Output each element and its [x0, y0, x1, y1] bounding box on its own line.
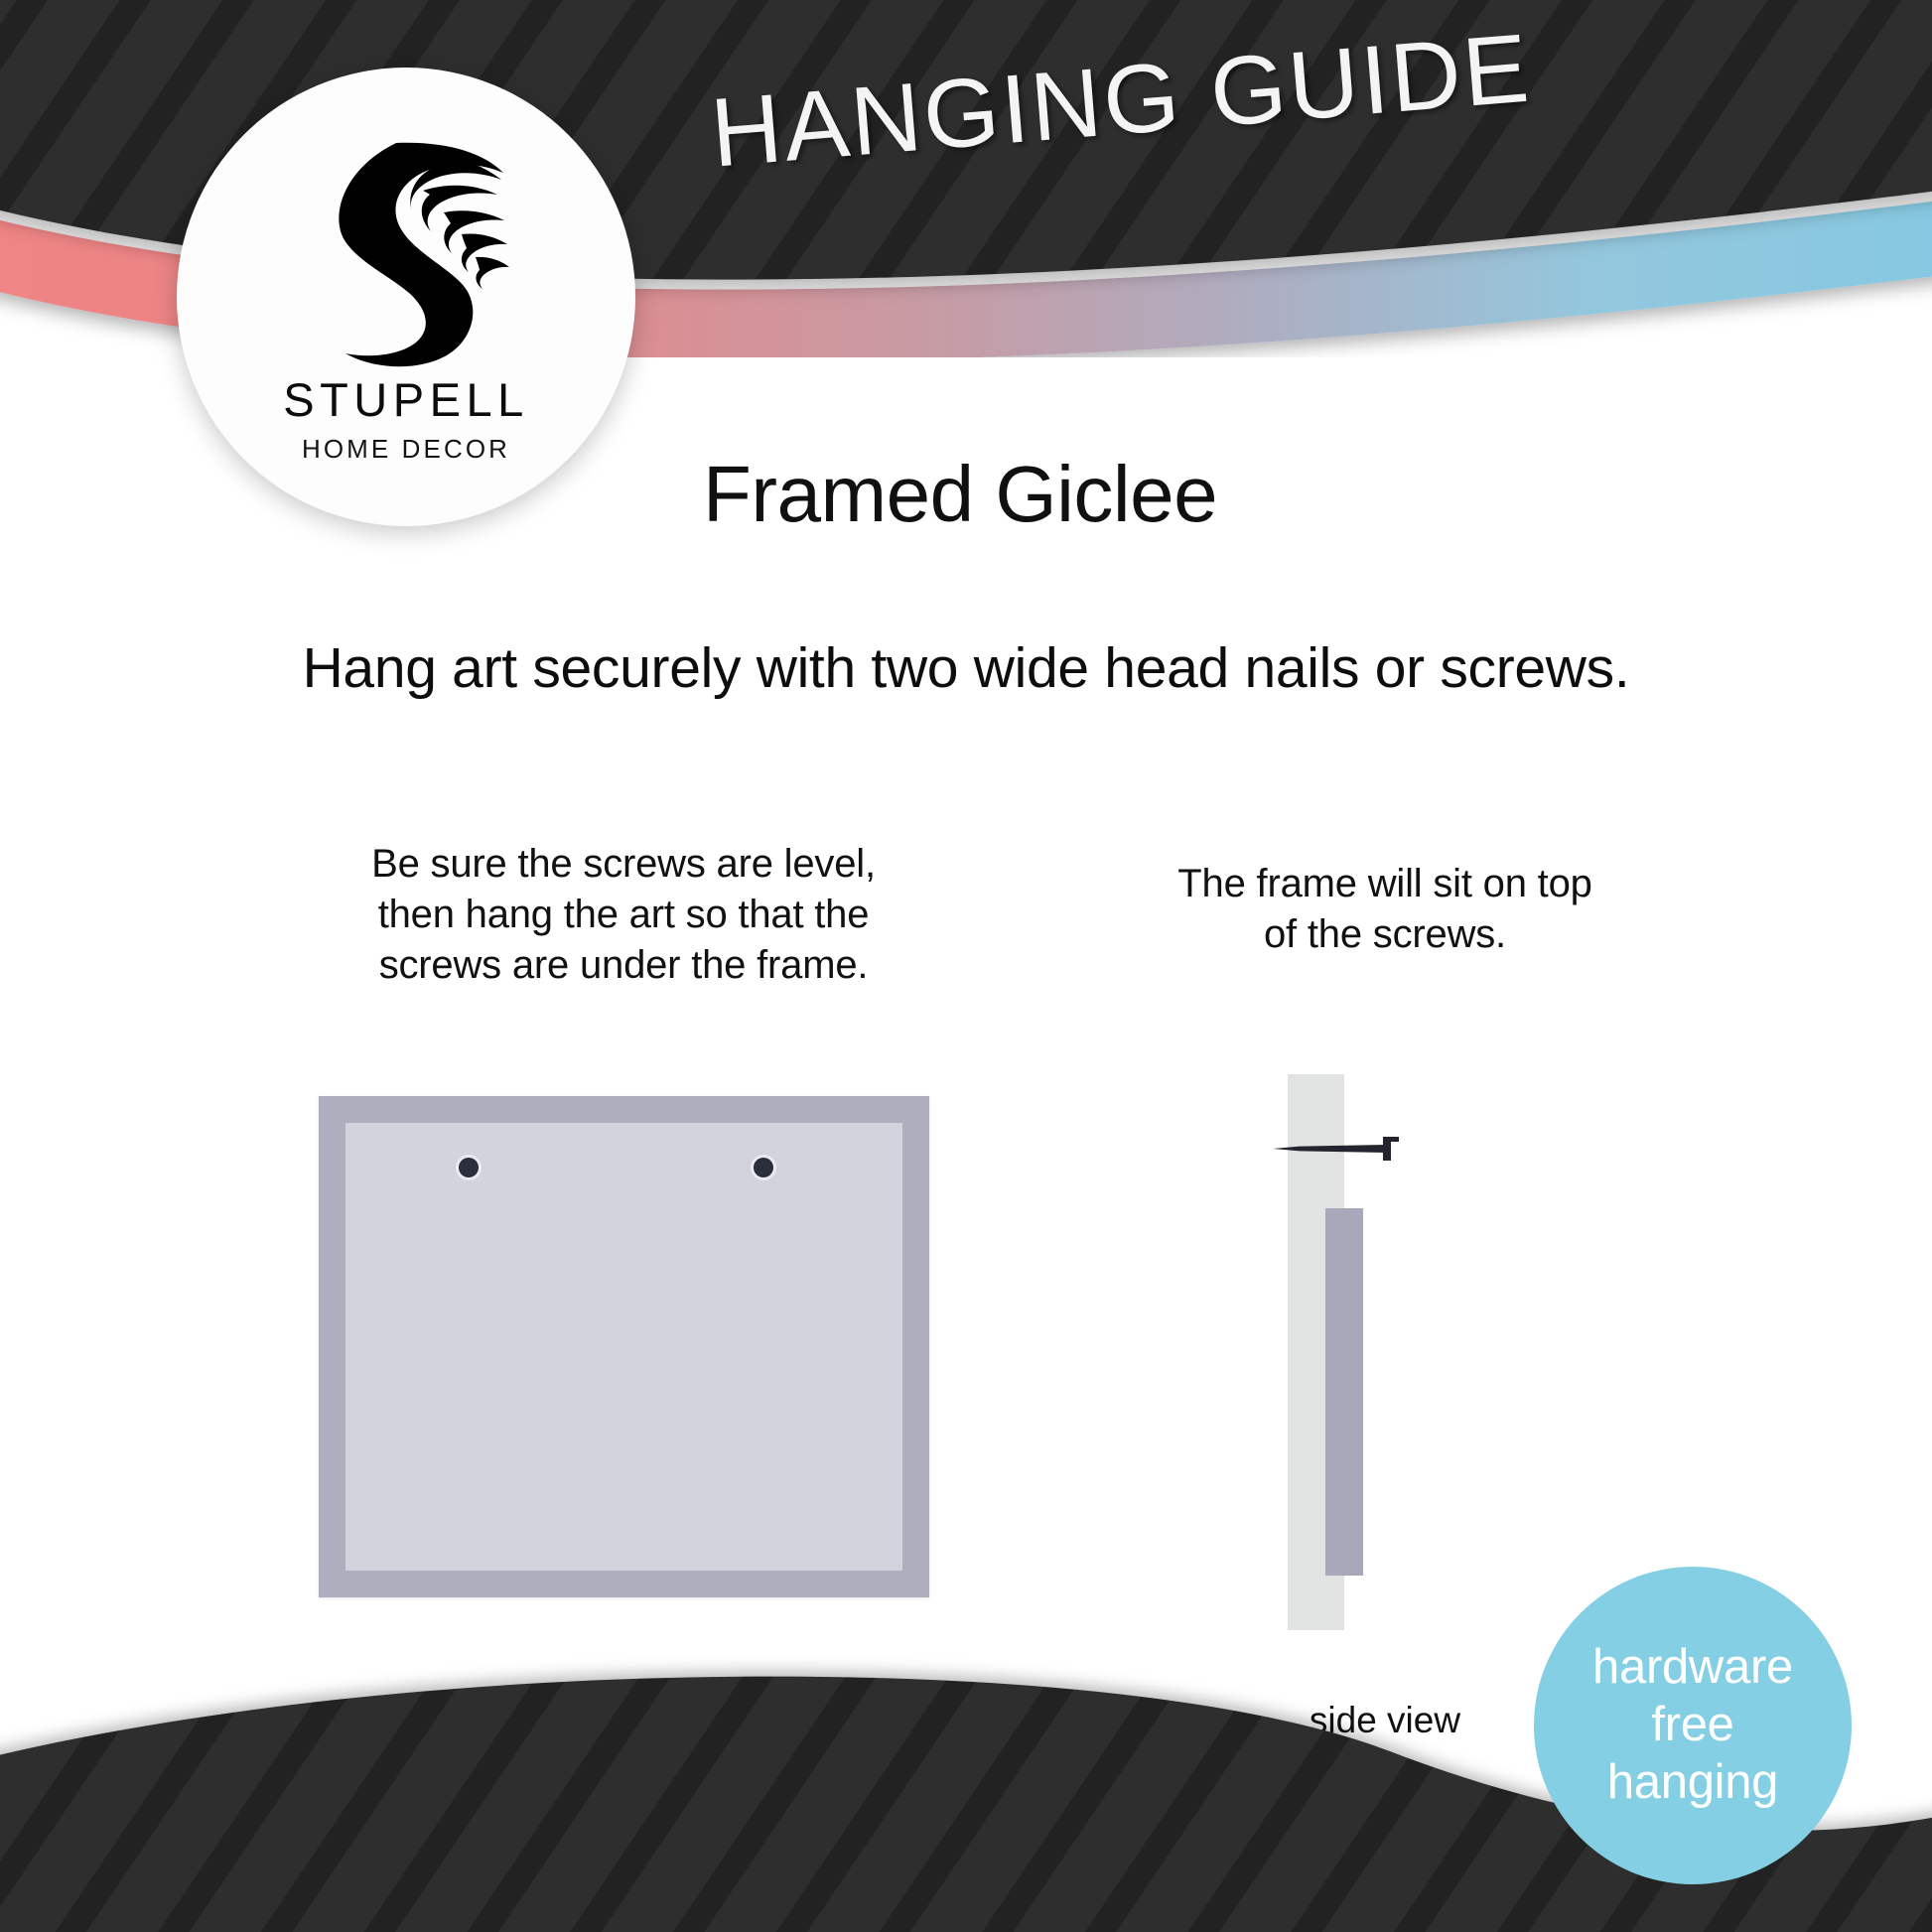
front-view-caption: Be sure the screws are level, then hang … [311, 839, 936, 992]
picture-frame-mat [345, 1123, 902, 1571]
brand-logo: STUPELL HOME DECOR [177, 68, 635, 526]
product-type-heading: Framed Giclee [703, 449, 1217, 540]
nail-icon [1270, 1132, 1399, 1166]
brand-name: STUPELL [283, 376, 528, 423]
caption-line: The frame will sit on top [1127, 859, 1643, 909]
stupell-swoosh-mark [300, 117, 513, 370]
side-view-column: The frame will sit on top of the screws.… [1127, 859, 1643, 1741]
frame-cross-section [1325, 1208, 1363, 1576]
badge-line: free [1592, 1697, 1793, 1754]
badge-line: hanging [1592, 1754, 1793, 1812]
front-view-column: Be sure the screws are level, then hang … [311, 839, 936, 1728]
badge-text: hardware free hanging [1592, 1639, 1793, 1811]
side-view-diagram [1236, 1074, 1534, 1630]
caption-line: of the screws. [1127, 909, 1643, 960]
caption-line: then hang the art so that the [311, 890, 936, 940]
badge-line: hardware [1592, 1639, 1793, 1697]
brand-tagline: HOME DECOR [302, 434, 510, 465]
caption-line: screws are under the frame. [311, 940, 936, 991]
caption-line: Be sure the screws are level, [311, 839, 936, 890]
side-view-caption: The frame will sit on top of the screws. [1127, 859, 1643, 960]
picture-frame-border [319, 1096, 929, 1597]
hardware-free-hanging-badge: hardware free hanging [1534, 1567, 1852, 1884]
screw-dot-right [754, 1158, 773, 1177]
primary-instruction: Hang art securely with two wide head nai… [0, 635, 1932, 701]
screw-dot-left [459, 1158, 479, 1177]
front-view-diagram [319, 1096, 929, 1597]
